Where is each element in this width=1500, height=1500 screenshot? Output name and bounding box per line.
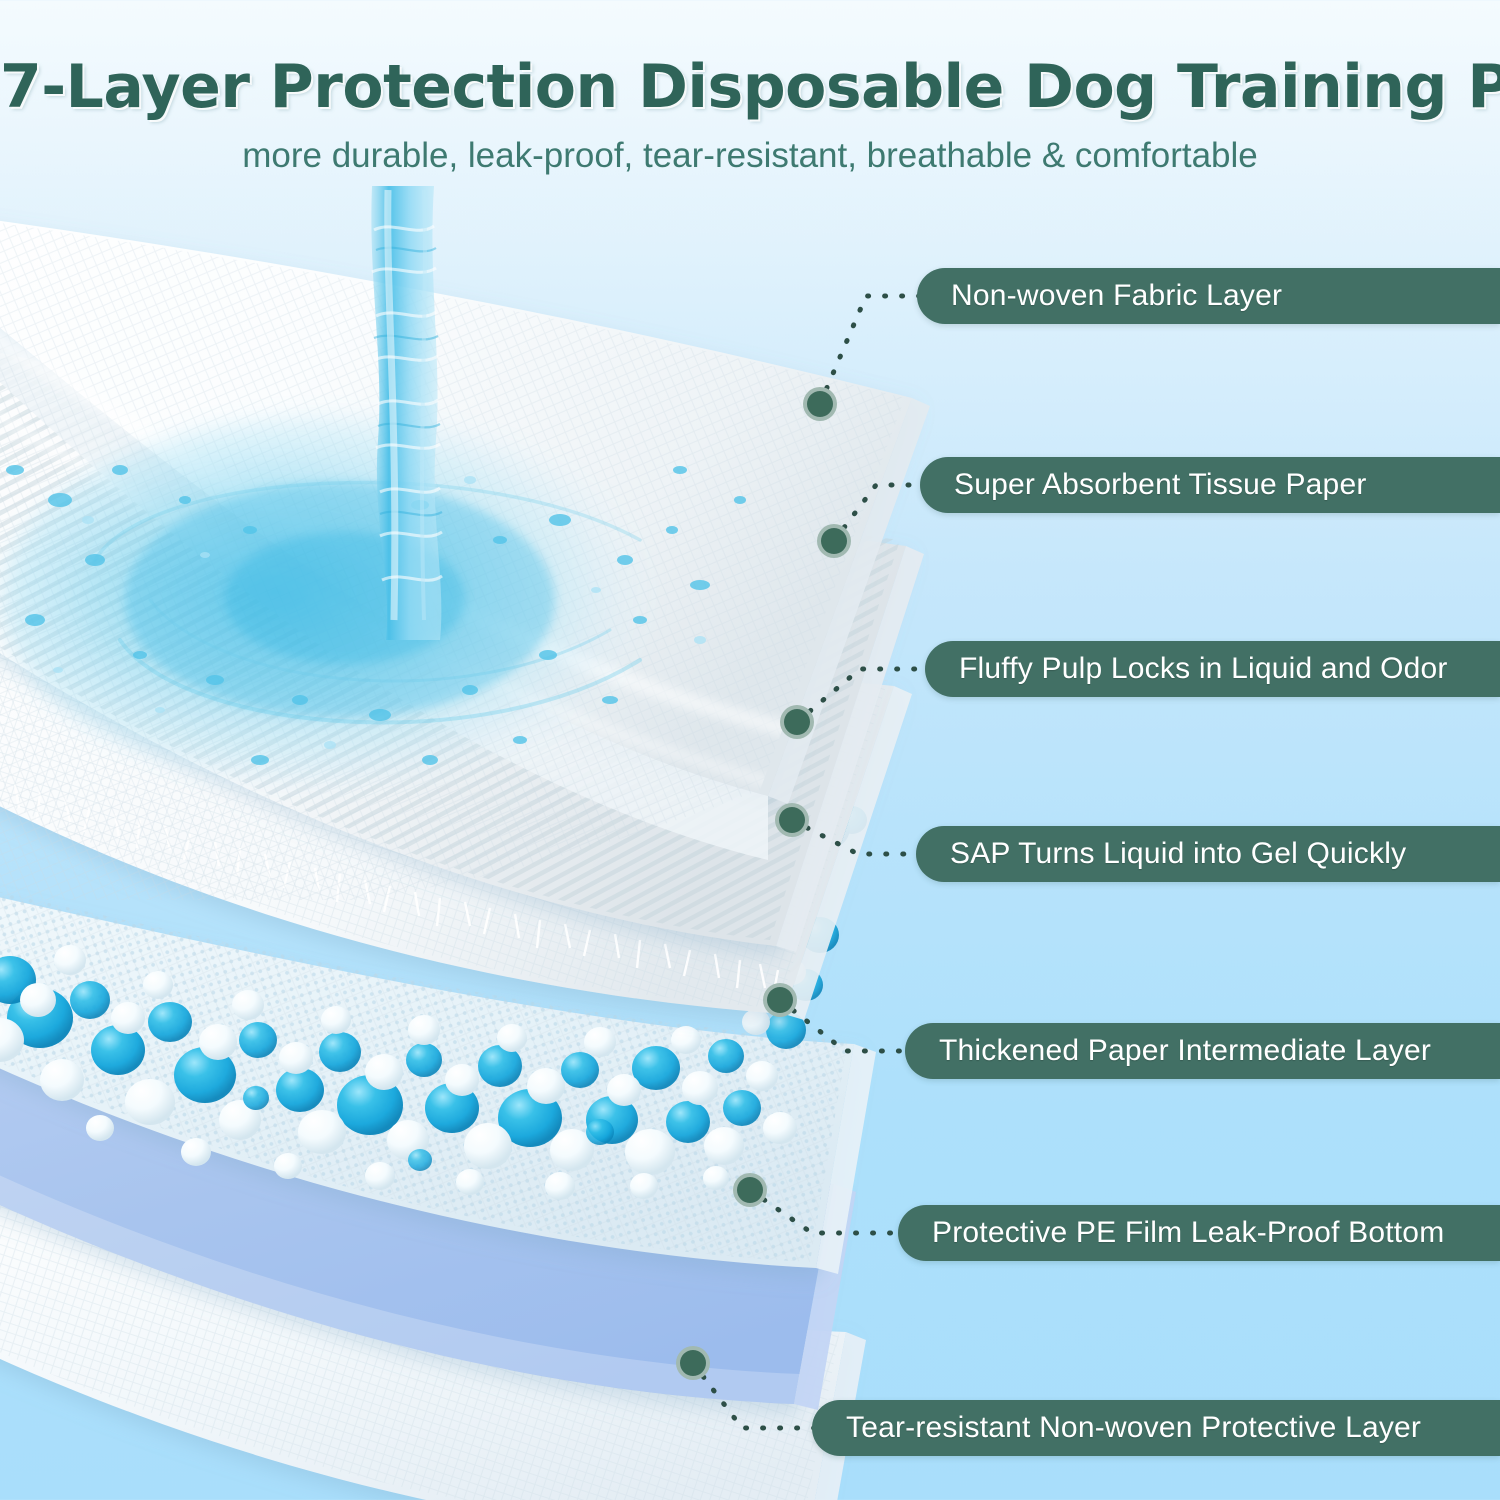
page-title: 7-Layer Protection Disposable Dog Traini… bbox=[0, 0, 1500, 122]
callout-marker-thickened-paper[interactable] bbox=[763, 983, 797, 1017]
page-subtitle: more durable, leak-proof, tear-resistant… bbox=[0, 122, 1500, 176]
callout-label-fluffy-pulp: Fluffy Pulp Locks in Liquid and Odor bbox=[959, 652, 1448, 686]
callout-marker-tear-resistant-bottom[interactable] bbox=[676, 1346, 710, 1380]
callout-label-non-woven-fabric-layer: Non-woven Fabric Layer bbox=[951, 279, 1282, 313]
callout-marker-non-woven-fabric-layer[interactable] bbox=[803, 387, 837, 421]
callout-pill-super-absorbent-tissue-paper[interactable]: Super Absorbent Tissue Paper bbox=[920, 457, 1500, 513]
callout-label-super-absorbent-tissue-paper: Super Absorbent Tissue Paper bbox=[954, 468, 1367, 502]
callout-pill-fluffy-pulp[interactable]: Fluffy Pulp Locks in Liquid and Odor bbox=[925, 641, 1500, 697]
header: 7-Layer Protection Disposable Dog Traini… bbox=[0, 0, 1500, 185]
callout-pill-tear-resistant-bottom[interactable]: Tear-resistant Non-woven Protective Laye… bbox=[812, 1400, 1500, 1456]
callout-marker-sap-gel[interactable] bbox=[775, 803, 809, 837]
callout-label-protective-pe-film: Protective PE Film Leak-Proof Bottom bbox=[932, 1216, 1444, 1250]
callout-marker-protective-pe-film[interactable] bbox=[733, 1173, 767, 1207]
callout-pill-protective-pe-film[interactable]: Protective PE Film Leak-Proof Bottom bbox=[898, 1205, 1500, 1261]
callout-marker-super-absorbent-tissue-paper[interactable] bbox=[817, 524, 851, 558]
callout-marker-fluffy-pulp[interactable] bbox=[780, 705, 814, 739]
callout-pill-non-woven-fabric-layer[interactable]: Non-woven Fabric Layer bbox=[917, 268, 1500, 324]
callout-pill-thickened-paper[interactable]: Thickened Paper Intermediate Layer bbox=[905, 1023, 1500, 1079]
product-layer-illustration bbox=[0, 0, 1500, 1500]
callout-label-thickened-paper: Thickened Paper Intermediate Layer bbox=[939, 1034, 1431, 1068]
callout-label-sap-gel: SAP Turns Liquid into Gel Quickly bbox=[950, 837, 1406, 871]
callout-pill-sap-gel[interactable]: SAP Turns Liquid into Gel Quickly bbox=[916, 826, 1500, 882]
callout-label-tear-resistant-bottom: Tear-resistant Non-woven Protective Laye… bbox=[846, 1411, 1421, 1445]
